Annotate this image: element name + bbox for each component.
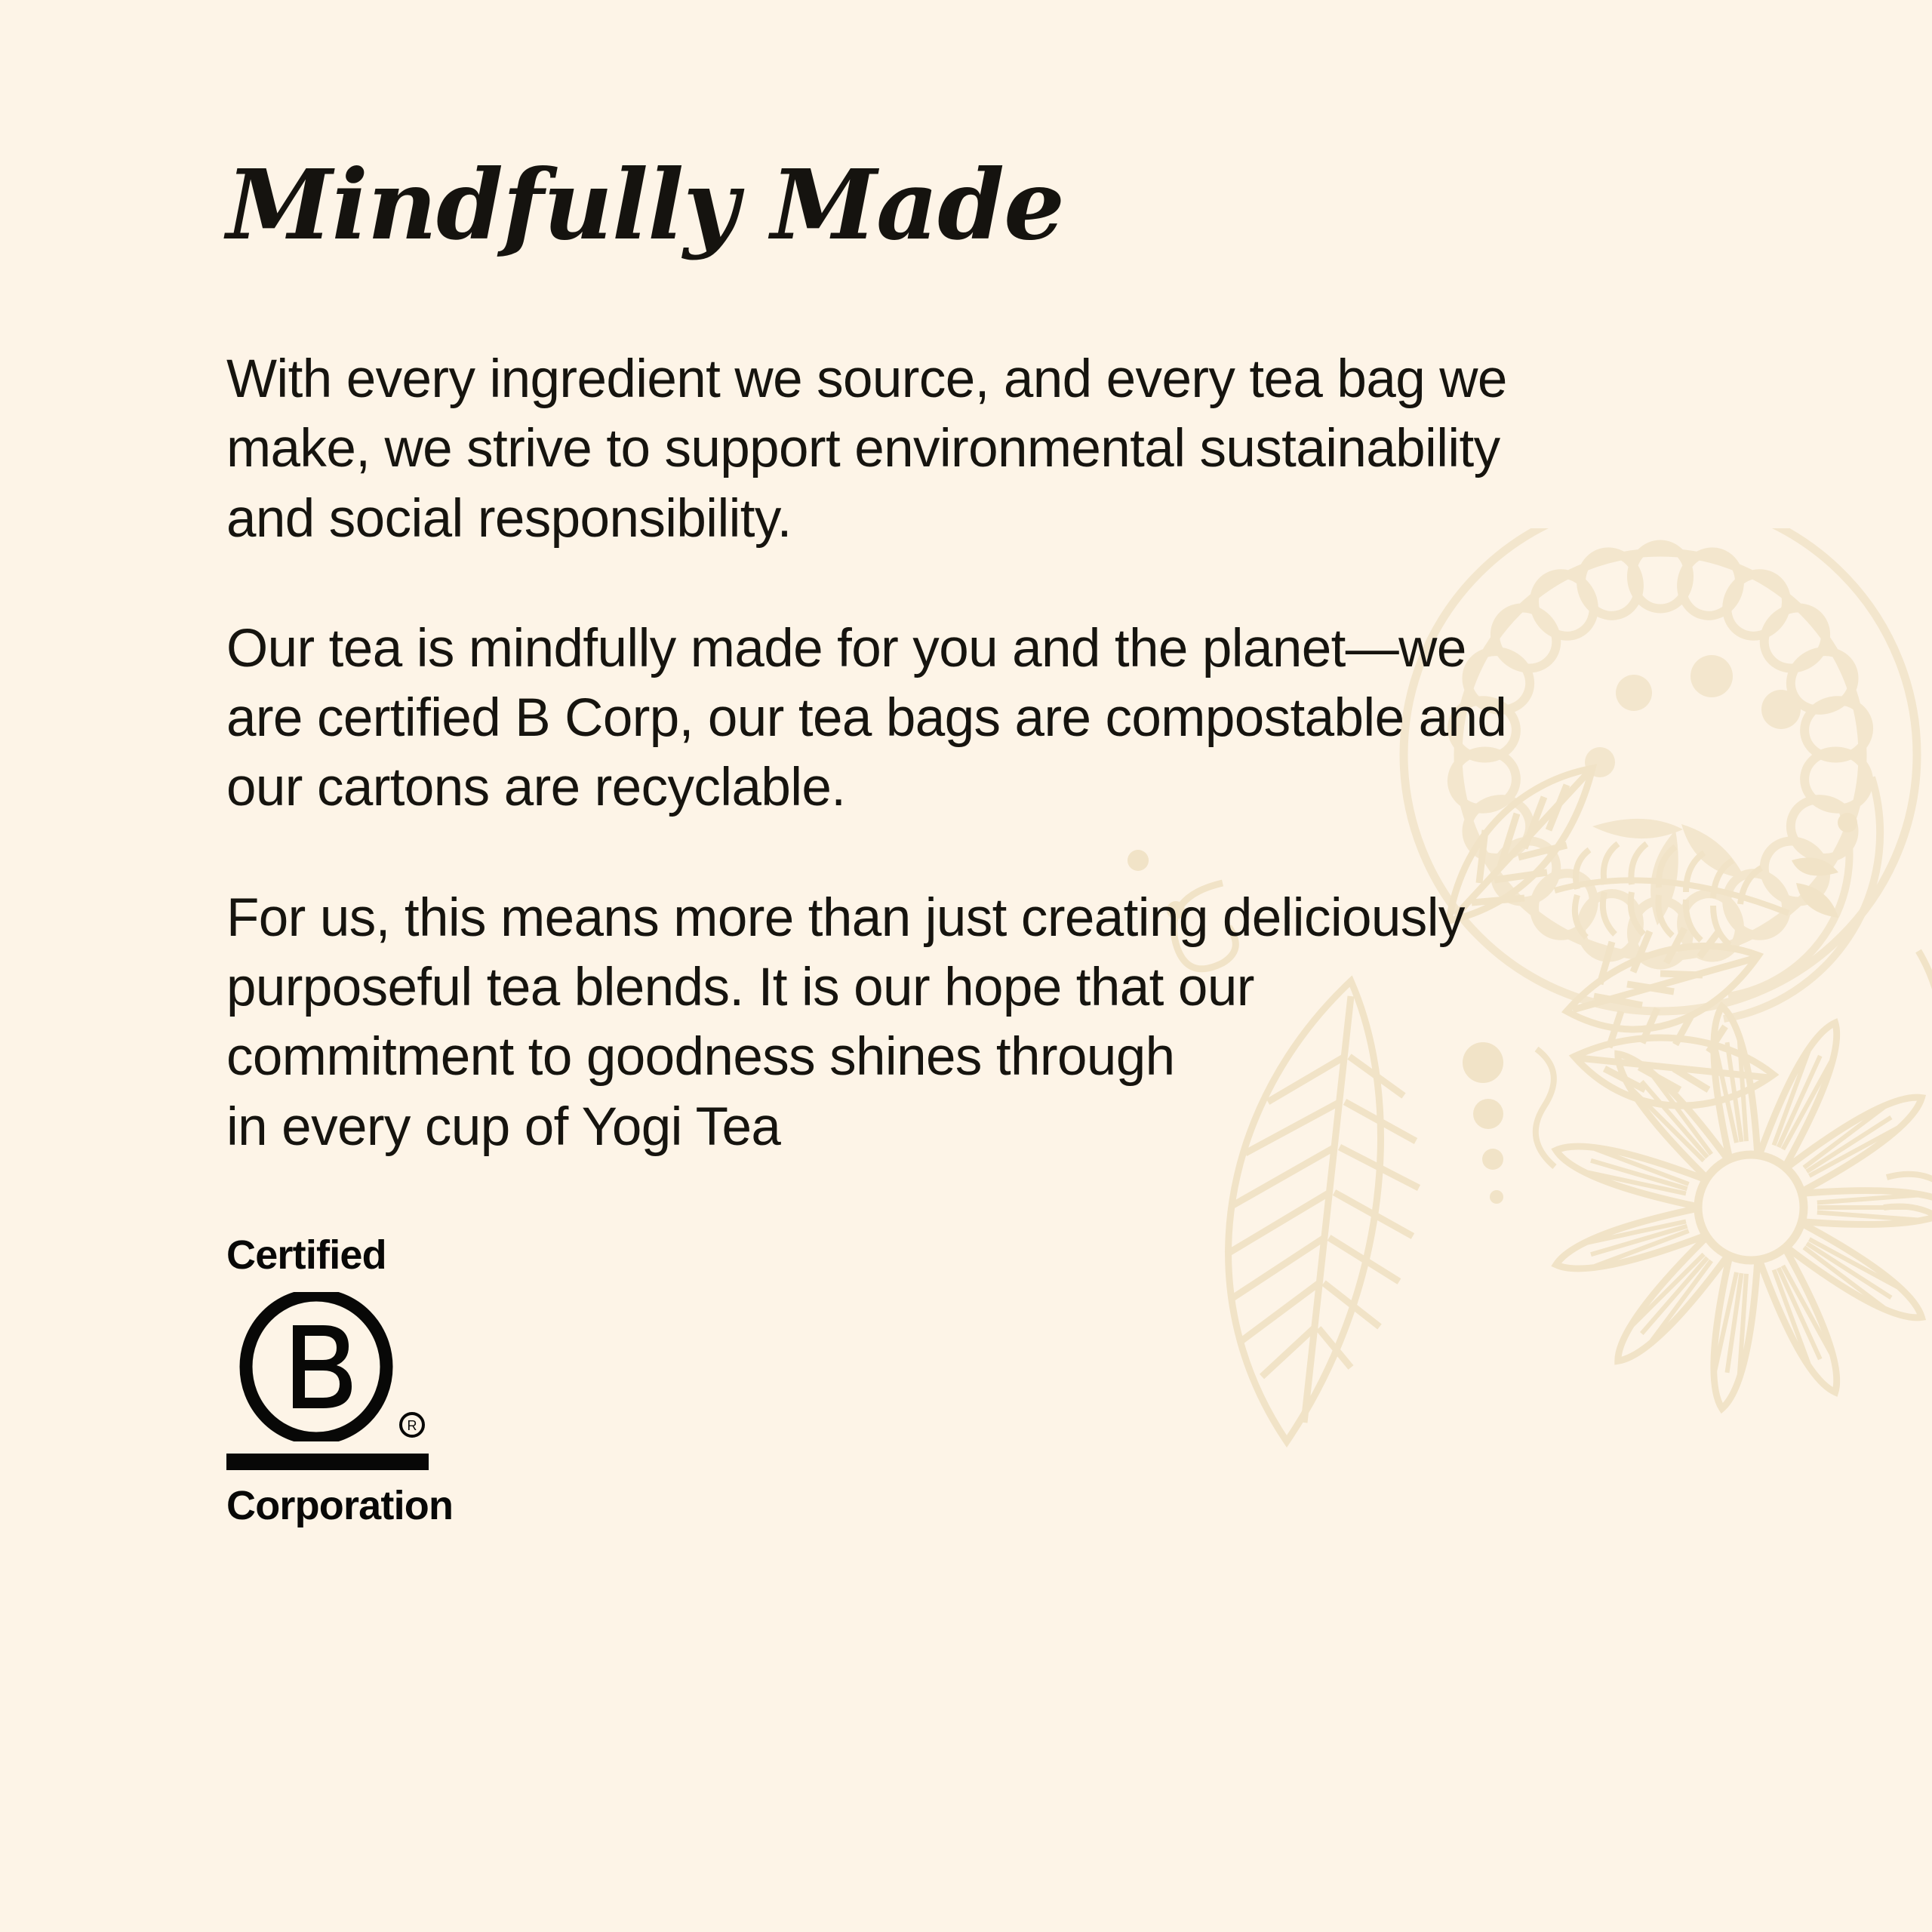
content-column: Mindfully Made With every ingredient we …	[226, 0, 1774, 1932]
paragraph-line: in every cup of Yogi Tea	[226, 1093, 1743, 1162]
bcorp-circled-b-icon: R	[226, 1292, 429, 1441]
bcorp-certified-label: Certified	[226, 1235, 429, 1275]
bcorp-corporation-label: Corporation	[226, 1485, 429, 1526]
body-paragraph-2: Our tea is mindfully made for you and th…	[226, 614, 1743, 823]
paragraph-line: and social responsibility.	[226, 485, 1743, 554]
paragraph-line: commitment to goodness shines through	[226, 1023, 1743, 1092]
bcorp-divider-rule	[226, 1454, 429, 1470]
paragraph-line: are certified B Corp, our tea bags are c…	[226, 684, 1743, 753]
poster-canvas: Mindfully Made With every ingredient we …	[0, 0, 1932, 1932]
paragraph-line: For us, this means more than just creati…	[226, 884, 1743, 953]
body-paragraph-3: For us, this means more than just creati…	[226, 884, 1743, 1162]
bcorp-certification-badge: Certified R Corporation	[226, 1235, 429, 1526]
body-paragraph-1: With every ingredient we source, and eve…	[226, 345, 1743, 554]
paragraph-line: Our tea is mindfully made for you and th…	[226, 614, 1743, 684]
paragraph-line: make, we strive to support environmental…	[226, 414, 1743, 484]
page-title: Mindfully Made	[226, 157, 1774, 253]
paragraph-line: our cartons are recyclable.	[226, 753, 1743, 823]
svg-text:R: R	[408, 1418, 417, 1433]
paragraph-line: With every ingredient we source, and eve…	[226, 345, 1743, 414]
paragraph-line: purposeful tea blends. It is our hope th…	[226, 953, 1743, 1023]
